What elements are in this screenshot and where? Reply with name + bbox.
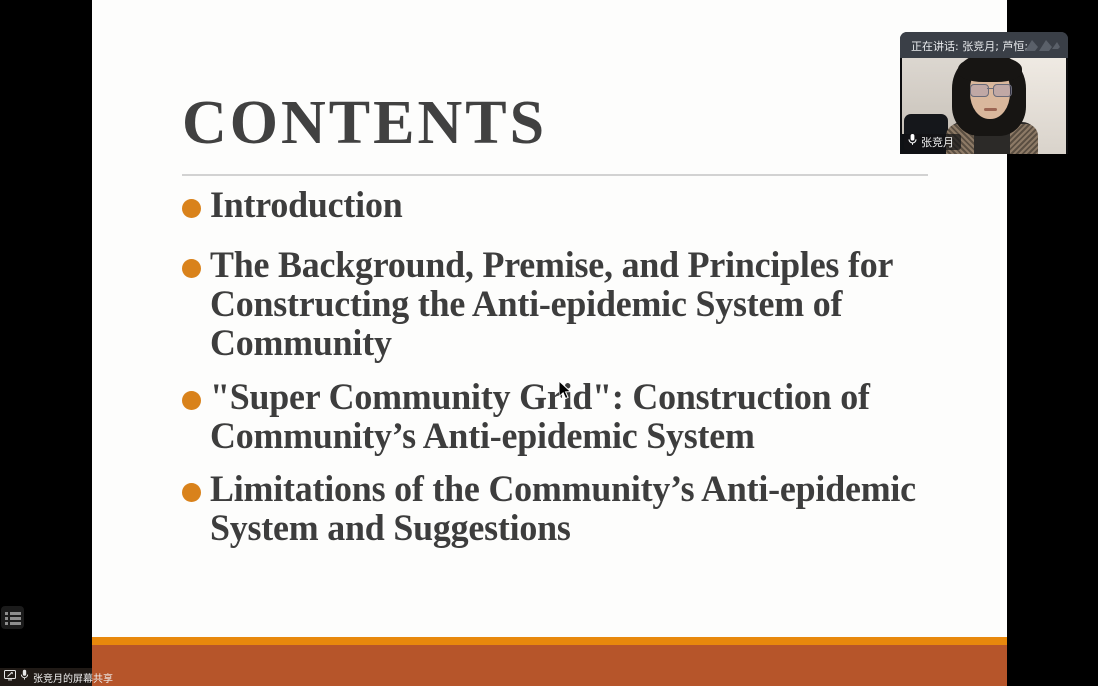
screen-share-taskbar[interactable]: 张竞月的屏幕共享	[0, 668, 92, 686]
screen-share-view: CONTENTS Introduction The Background, Pr…	[0, 0, 1098, 686]
list-item: Introduction	[182, 186, 972, 225]
bullet-dot-icon	[182, 391, 201, 410]
participant-name-badge: 张竞月	[904, 134, 961, 150]
list-item: "Super Community Grid": Construction of …	[182, 378, 972, 456]
video-feed: 张竞月	[900, 58, 1068, 154]
bullet-dot-icon	[182, 259, 201, 278]
active-speaker-label: 正在讲话: 张竞月; 芦恒;	[911, 38, 1028, 54]
page-title: CONTENTS	[182, 92, 547, 154]
list-item: Limitations of the Community’s Anti-epid…	[182, 470, 972, 548]
participant-name: 张竞月	[921, 134, 954, 150]
slide-accent-stripe	[92, 637, 1007, 645]
bullet-dot-icon	[182, 483, 201, 502]
list-view-icon[interactable]	[1, 606, 24, 629]
microphone-icon	[20, 668, 29, 686]
shared-slide: CONTENTS Introduction The Background, Pr…	[92, 0, 1007, 686]
list-item-label: The Background, Premise, and Principles …	[210, 246, 949, 363]
list-item: The Background, Premise, and Principles …	[182, 246, 972, 363]
slide-footer-band	[92, 645, 1007, 686]
list-item-label: Introduction	[210, 186, 949, 225]
left-letterbox-rail	[0, 0, 92, 686]
list-item-label: "Super Community Grid": Construction of …	[210, 378, 949, 456]
list-item-label: Limitations of the Community’s Anti-epid…	[210, 470, 949, 548]
contents-list: Introduction The Background, Premise, an…	[182, 186, 972, 562]
microphone-icon	[907, 133, 918, 151]
slide-content-area: CONTENTS Introduction The Background, Pr…	[92, 0, 1007, 637]
title-divider	[182, 174, 928, 176]
screen-share-icon	[4, 668, 16, 686]
signal-bars-icon	[1023, 37, 1061, 54]
screen-share-status-label: 张竞月的屏幕共享	[33, 670, 113, 685]
participant-video-panel[interactable]: 正在讲话: 张竞月; 芦恒;	[900, 32, 1068, 154]
bullet-dot-icon	[182, 199, 201, 218]
video-panel-header: 正在讲话: 张竞月; 芦恒;	[900, 32, 1068, 58]
